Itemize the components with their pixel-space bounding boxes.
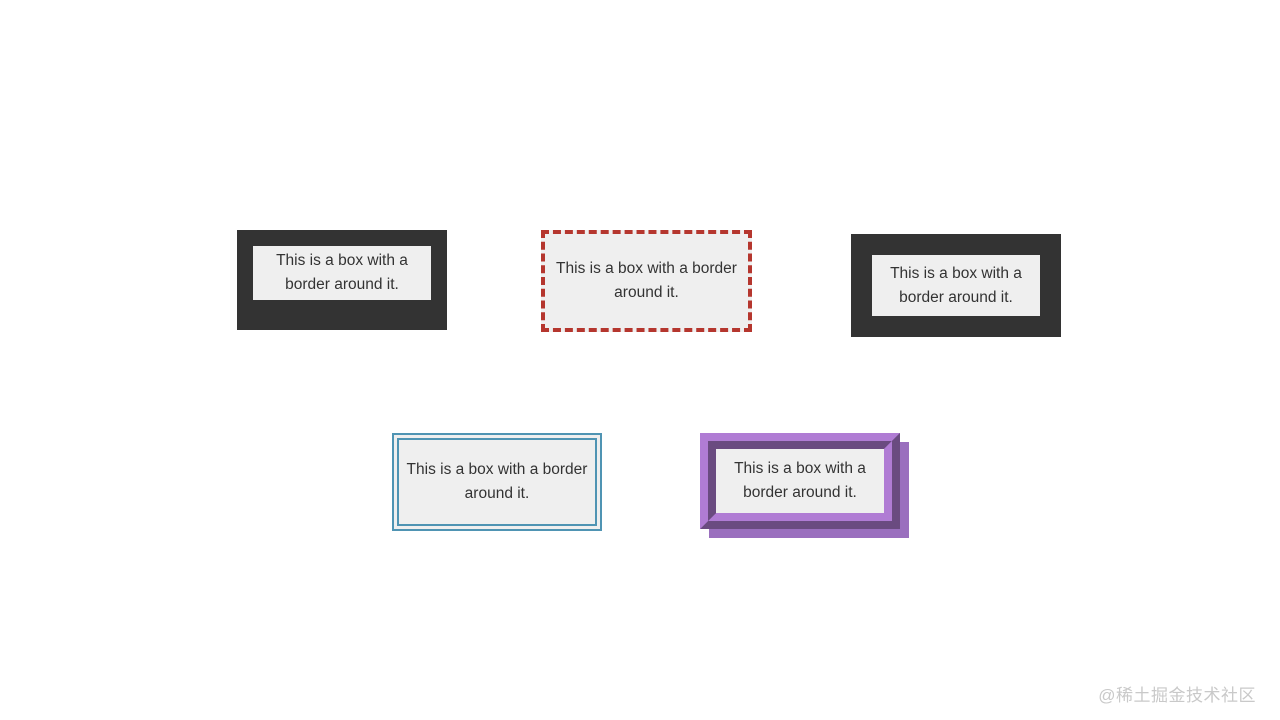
solid-dark-box: This is a box with a border around it. (237, 230, 447, 330)
double-teal-box: This is a box with a border around it. (392, 433, 602, 531)
double-teal-box-label: This is a box with a border around it. (399, 458, 595, 506)
dashed-red-box-label: This is a box with a border around it. (545, 257, 748, 305)
solid-dark-even-box: This is a box with a border around it. (851, 234, 1061, 337)
page-canvas: This is a box with a border around it. T… (0, 0, 1280, 720)
dashed-red-box: This is a box with a border around it. (541, 230, 752, 332)
watermark: @稀土掘金技术社区 (1098, 681, 1256, 706)
ridge-purple-box-label: This is a box with a border around it. (716, 457, 884, 505)
solid-dark-box-label: This is a box with a border around it. (253, 249, 431, 297)
ridge-purple-box: This is a box with a border around it. (700, 433, 900, 529)
solid-dark-even-box-label: This is a box with a border around it. (872, 262, 1040, 310)
